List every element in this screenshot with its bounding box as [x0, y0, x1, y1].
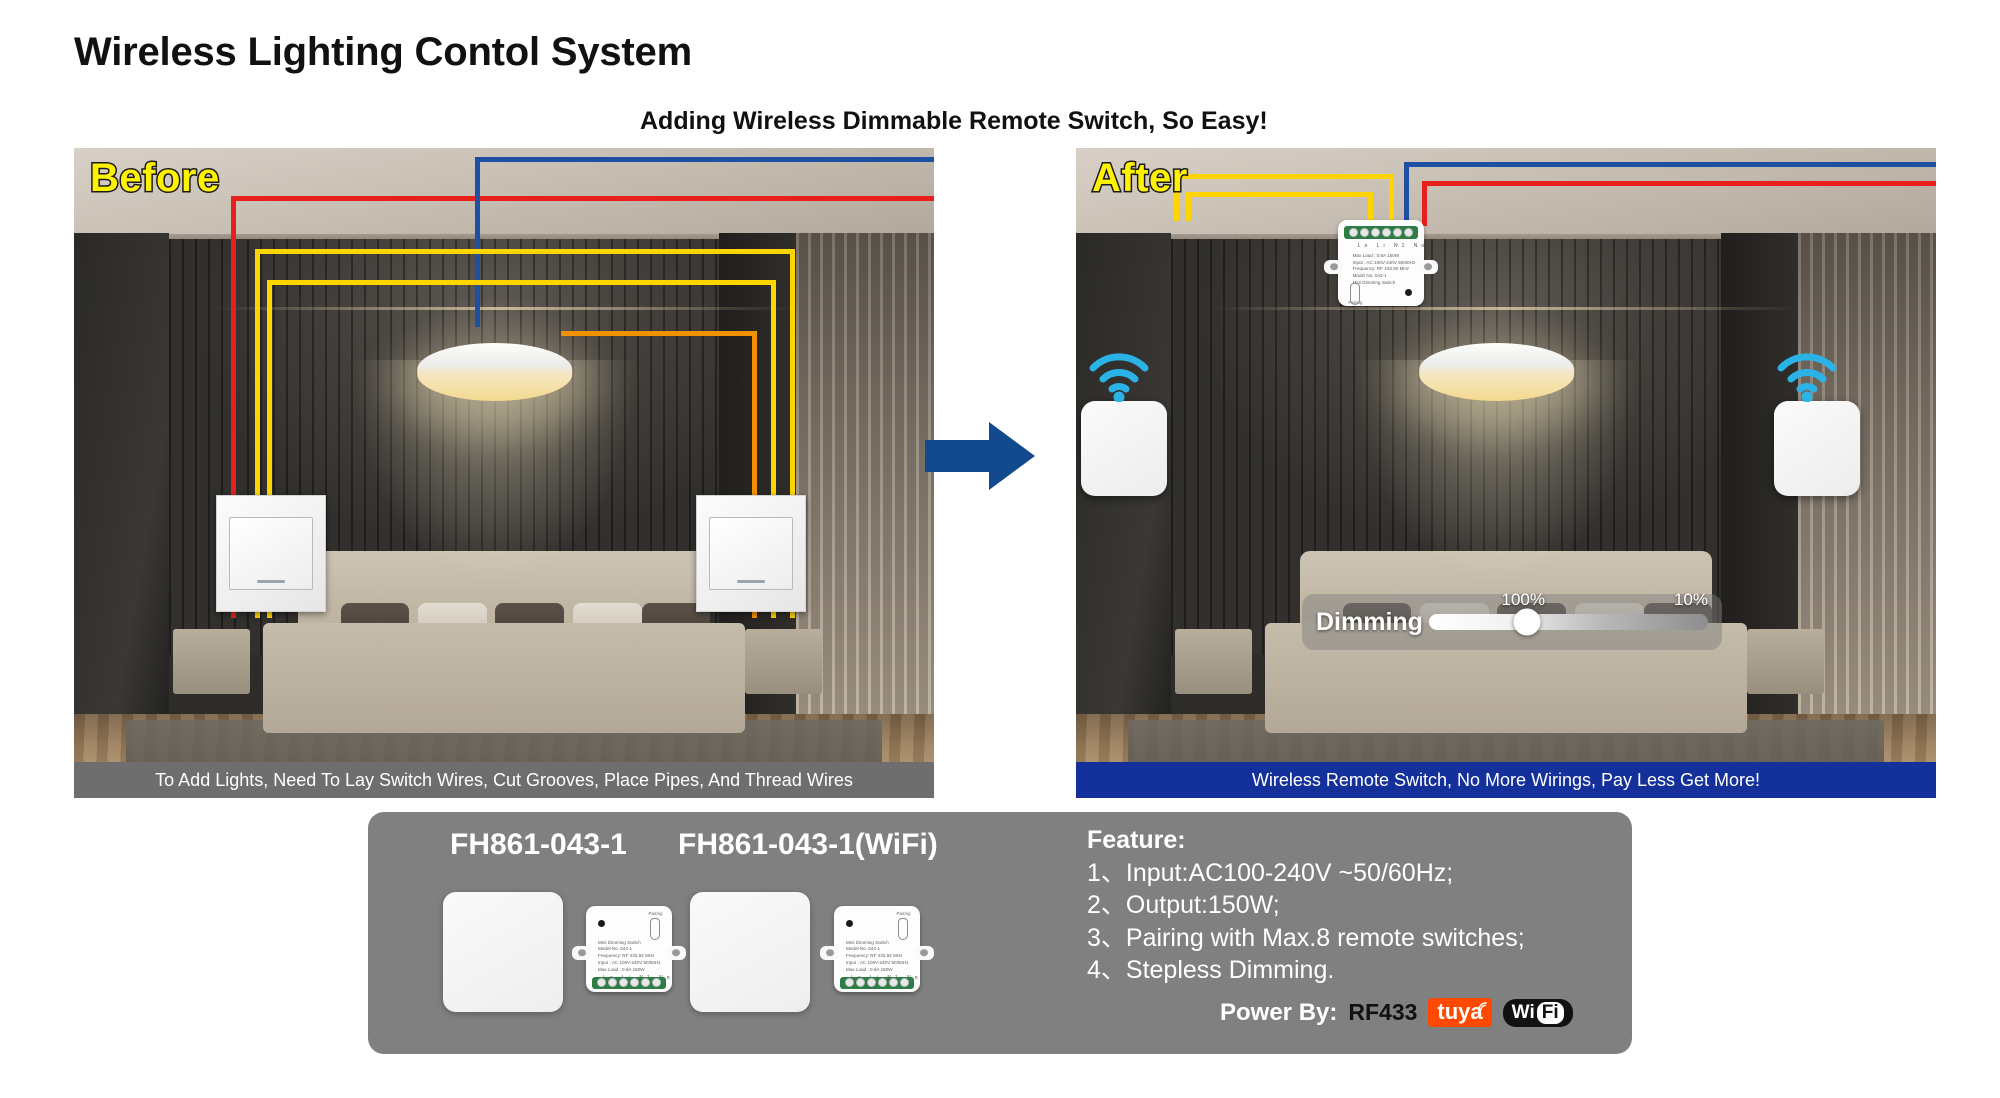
tuya-logo: tuya [1428, 998, 1491, 1027]
ceiling-lamp [1419, 343, 1574, 401]
product-panel: FH861-043-1 FH861-043-1(WiFi) Pairing Mi… [368, 812, 1632, 1054]
module-input: Input : AC 100V-240V 50/60Hz [1353, 260, 1416, 266]
cove-light [1214, 307, 1799, 310]
module-max-load: Max Load : 0.6A 150W [846, 967, 892, 973]
pairing-label: Pairing [649, 911, 663, 916]
pairing-label: Pairing [1348, 300, 1362, 305]
wire-red-horizontal [231, 196, 934, 201]
before-caption: To Add Lights, Need To Lay Switch Wires,… [74, 762, 934, 798]
wifi-logo-wi: Wi [1512, 1002, 1535, 1024]
wire-blue-horizontal [1404, 162, 1936, 167]
nightstand-right [1747, 629, 1824, 694]
before-scene: Before To Add Lights, Need To Lay Switch… [74, 148, 934, 798]
ceiling-lamp [417, 343, 572, 401]
wire-yellow-inner-horizontal [267, 280, 776, 285]
wire-yellow-outer-horizontal [1174, 174, 1393, 179]
dimmer-module-1: Pairing Mini Dimming Switch Model No. 04… [586, 906, 672, 992]
wifi-logo: Wi Fi [1503, 999, 1573, 1027]
dimmer-module-2: Pairing Mini Dimming Switch Model No. 04… [834, 906, 920, 992]
module-frequency: Frequency: RF 433.92 MHz [598, 953, 654, 959]
module-model: Model No. 043-1 [846, 946, 880, 952]
terminal-block [592, 977, 666, 990]
before-tag: Before [90, 156, 220, 201]
wire-blue-vertical [475, 157, 480, 327]
remote-switch-left[interactable] [1081, 401, 1167, 496]
product-plate-1[interactable] [443, 892, 563, 1012]
dimming-control[interactable]: Dimming 100% 10% [1302, 594, 1722, 650]
dimming-value-min: 10% [1674, 590, 1708, 610]
wire-blue-horizontal [475, 157, 934, 162]
dimming-slider-track[interactable] [1429, 614, 1708, 630]
after-scene: Lo Li N1 No Max Load : 0.6A 150W Input :… [1076, 148, 1936, 798]
page-subtitle: Adding Wireless Dimmable Remote Switch, … [640, 107, 1268, 136]
wall-left [74, 233, 169, 714]
module-model: Model No. 043-1 [598, 946, 632, 952]
product-plate-2[interactable] [690, 892, 810, 1012]
wifi-signal-icon-left [1088, 350, 1150, 407]
dimming-label: Dimming [1316, 608, 1423, 637]
wire-yellow-outer-right [1389, 174, 1394, 226]
wire-orange-horizontal [561, 331, 757, 336]
led-indicator [846, 920, 853, 927]
wire-red-horizontal [1422, 181, 1936, 186]
module-frequency: Frequency: RF 433.92 MHz [1353, 266, 1409, 272]
module-title: Mini Dimming Switch [846, 940, 889, 946]
dimmer-module-installed: Lo Li N1 No Max Load : 0.6A 150W Input :… [1338, 220, 1424, 306]
module-max-load: Max Load : 0.6A 150W [598, 967, 644, 973]
wall-switch-right[interactable] [696, 495, 806, 612]
rocker-right[interactable] [709, 517, 793, 591]
module-pin-labels: Lo Li N1 No [1358, 243, 1428, 249]
wire-yellow-inner-horizontal [1186, 192, 1372, 197]
feature-item-4: 4、Stepless Dimming. [1087, 954, 1525, 987]
bed [263, 623, 745, 734]
feature-item-1: 1、Input:AC100-240V ~50/60Hz; [1087, 857, 1525, 890]
module-model: Model No. 043-1 [1353, 273, 1387, 279]
module-frequency: Frequency: RF 433.92 MHz [846, 953, 902, 959]
wifi-signal-icon-right [1776, 350, 1838, 407]
nightstand-left [173, 629, 250, 694]
pairing-button[interactable] [898, 918, 908, 940]
terminal-block [840, 977, 914, 990]
product-name-1: FH861-043-1 [450, 828, 627, 862]
rf433-label: RF433 [1348, 999, 1417, 1026]
led-indicator [1405, 289, 1412, 296]
pairing-label: Pairing [897, 911, 911, 916]
module-title: Mini Dimming Switch [598, 940, 641, 946]
terminal-block [1344, 226, 1418, 239]
wall-switch-left[interactable] [216, 495, 326, 612]
dimming-value-max: 100% [1502, 590, 1545, 610]
led-indicator [598, 920, 605, 927]
after-tag: After [1092, 156, 1188, 201]
wire-yellow-outer-horizontal [255, 249, 795, 254]
module-max-load: Max Load : 0.6A 150W [1353, 253, 1399, 259]
dimming-slider-knob[interactable] [1513, 609, 1540, 636]
wire-blue-vertical [1404, 162, 1409, 226]
pairing-button[interactable] [650, 918, 660, 940]
feature-title: Feature: [1087, 824, 1525, 857]
after-caption: Wireless Remote Switch, No More Wirings,… [1076, 762, 1936, 798]
power-by-label: Power By: [1220, 999, 1337, 1027]
feature-list: Feature: 1、Input:AC100-240V ~50/60Hz; 2、… [1087, 824, 1525, 987]
transition-arrow [925, 420, 1035, 492]
feature-item-3: 3、Pairing with Max.8 remote switches; [1087, 922, 1525, 955]
remote-switch-right[interactable] [1774, 401, 1860, 496]
nightstand-right [745, 629, 822, 694]
page-title: Wireless Lighting Contol System [74, 30, 692, 75]
rocker-left[interactable] [229, 517, 313, 591]
module-input: Input : AC 100V-240V 50/60Hz [846, 960, 909, 966]
module-input: Input : AC 100V-240V 50/60Hz [598, 960, 661, 966]
feature-item-2: 2、Output:150W; [1087, 889, 1525, 922]
power-by-row: Power By: RF433 tuya Wi Fi [1220, 998, 1573, 1027]
tuya-wave-icon [1477, 1001, 1488, 1012]
bedroom-render-before [74, 148, 934, 798]
cove-light [212, 307, 797, 310]
wifi-logo-fi: Fi [1537, 1002, 1564, 1024]
product-name-2: FH861-043-1(WiFi) [678, 828, 938, 862]
nightstand-left [1175, 629, 1252, 694]
